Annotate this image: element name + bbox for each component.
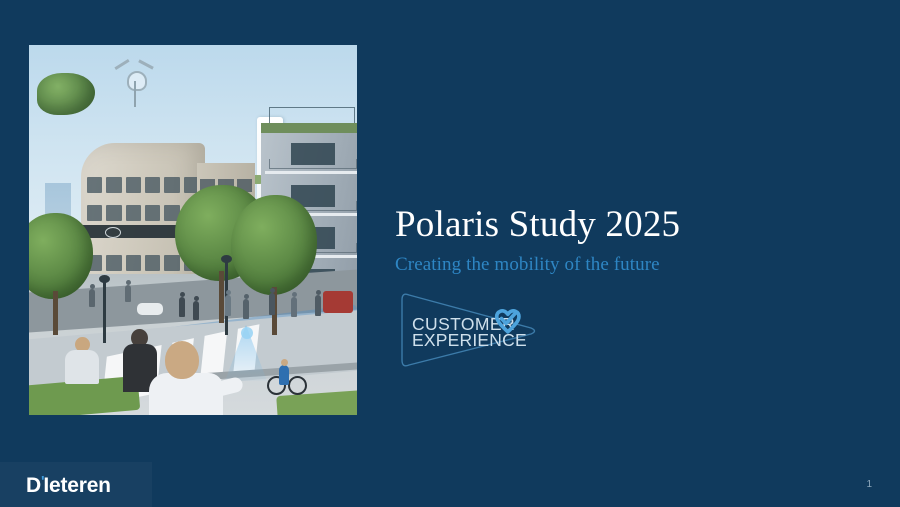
car <box>137 303 163 315</box>
pedestrian <box>89 289 95 307</box>
tree-trunk <box>53 291 58 335</box>
title-block: Polaris Study 2025 Creating the mobility… <box>395 206 680 276</box>
bus <box>323 291 353 313</box>
pedestrian <box>225 295 231 316</box>
roof-railing <box>269 107 355 124</box>
tree-trunk <box>219 271 224 323</box>
rooftop-statue-icon <box>115 59 155 107</box>
hologram-node <box>241 327 253 339</box>
slide-root: Polaris Study 2025 Creating the mobility… <box>0 0 900 507</box>
street-lamp-icon <box>103 281 106 343</box>
foreground-person <box>147 337 239 415</box>
pedestrian <box>125 285 131 302</box>
hero-scene <box>29 45 357 415</box>
brand-rest: Ieteren <box>43 474 110 497</box>
customer-experience-logo: CUSTOMER EXPERIENCE <box>392 286 544 372</box>
hero-image <box>29 45 357 415</box>
page-title: Polaris Study 2025 <box>395 206 680 245</box>
page-number: 1 <box>866 480 872 490</box>
pedestrian <box>315 295 321 316</box>
pedestrian <box>179 297 185 317</box>
dieteren-logo: D'Ieteren <box>26 475 111 496</box>
pedestrian <box>193 301 199 320</box>
cx-logo-line2: EXPERIENCE <box>412 330 527 350</box>
brand-letter-d: D <box>26 474 41 497</box>
brand-apostrophe: ' <box>41 473 44 490</box>
footer-panel: D'Ieteren <box>0 462 152 507</box>
seated-person <box>63 337 103 385</box>
cyclist <box>267 365 307 395</box>
pedestrian <box>269 293 275 315</box>
pedestrian <box>291 297 297 317</box>
pedestrian <box>243 299 249 319</box>
page-subtitle: Creating the mobility of the future <box>395 254 680 276</box>
